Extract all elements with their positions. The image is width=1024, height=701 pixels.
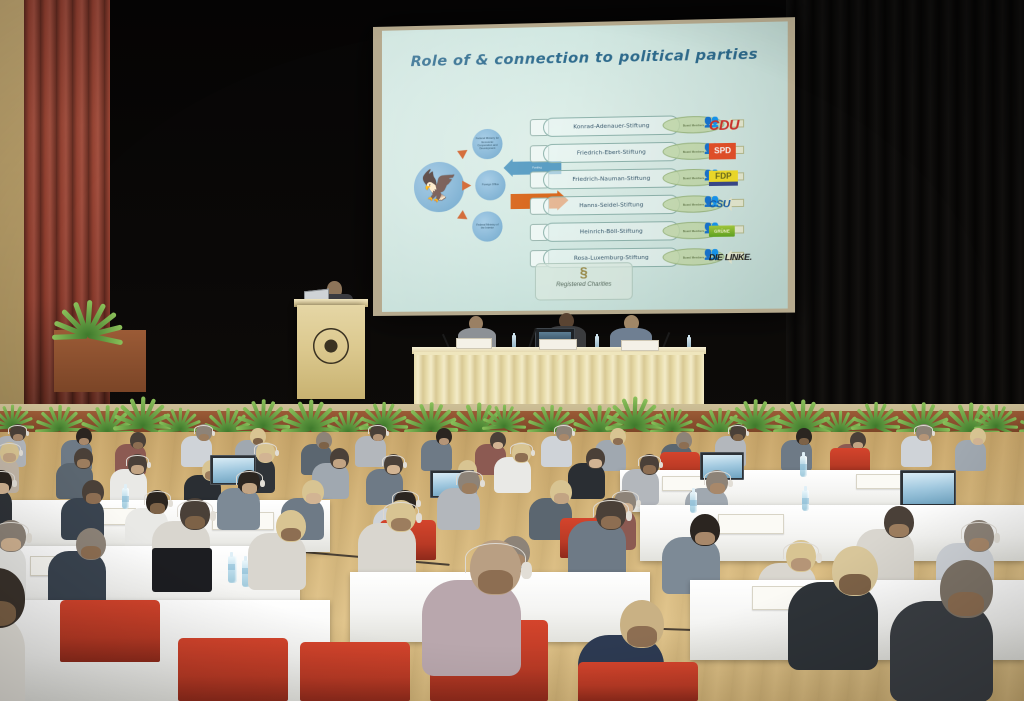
swirl-logo-icon: ⦿ [311, 329, 351, 369]
interpretation-headset [368, 425, 387, 435]
party-label: FDP [709, 170, 738, 186]
delegate-name-card [718, 514, 784, 534]
delegate-torso [781, 440, 812, 470]
delegate-nape [589, 459, 602, 468]
delegate-laptop [900, 470, 956, 506]
interpretation-headset [0, 443, 21, 454]
foundation-name: Heinrich-Böll-Stiftung [543, 221, 680, 242]
arrow-down-icon [457, 210, 470, 223]
delegate-nape [969, 538, 989, 552]
projection-screen-frame: Role of & connection to political partie… [373, 17, 795, 316]
interpretation-headset [465, 543, 526, 573]
ministry-node-2: Foreign Office [475, 170, 505, 201]
registered-charities-label: Registered Charities [536, 281, 632, 288]
panel-name-card [621, 340, 659, 351]
delegate-nape [889, 524, 909, 538]
ministry-node-3: Federal Ministry of the Interior [472, 211, 502, 242]
foundation-name: Friedrich-Ebert-Stiftung [543, 142, 680, 164]
party-logo-die-linke: DIE LINKE. [709, 245, 782, 268]
delegate-chair [578, 662, 698, 701]
delegate-nape [319, 442, 330, 449]
delegate-nape [919, 434, 930, 441]
delegate-nape [259, 453, 272, 462]
delegate-nape [391, 518, 411, 532]
delegate-torso [890, 601, 993, 701]
delegate-nape [643, 465, 656, 474]
interpretation-headset [961, 522, 997, 540]
delegate-nape [791, 558, 811, 572]
delegate-nape [81, 546, 101, 560]
arrow-right-icon [462, 181, 471, 191]
delegate-chair [178, 638, 288, 701]
delegate-torso [568, 521, 626, 578]
delegate-nape [3, 453, 16, 462]
projection-screen: Role of & connection to political partie… [382, 21, 788, 312]
delegate-torso [437, 488, 481, 531]
hall-side-wall [0, 0, 26, 420]
interpretation-headset [126, 455, 149, 466]
interpretation-headset [0, 522, 29, 540]
delegate-nape [973, 438, 984, 445]
delegate-nape [478, 570, 512, 593]
party-label: SPD [709, 143, 736, 160]
ministry-node-1: Federal Ministry for Economic Cooperatio… [472, 129, 502, 160]
delegate-nape [86, 493, 101, 503]
delegate-nape [839, 574, 870, 595]
delegate-nape [613, 438, 624, 445]
delegate-nape [695, 532, 715, 546]
delegate-nape [948, 592, 984, 616]
party-logo-csu: CSU [709, 192, 782, 215]
delegate-nape [281, 528, 301, 542]
fern-plant [650, 400, 698, 432]
delegate-torso [901, 436, 932, 466]
foundation-name: Friedrich-Nauman-Stiftung [543, 168, 680, 189]
water-bottle [122, 488, 129, 509]
fern-plant [52, 287, 130, 338]
interpretation-headset [728, 425, 747, 435]
delegate-nape [131, 465, 144, 474]
delegate-torso [955, 440, 986, 470]
interpretation-headset [254, 443, 277, 454]
lectern: ⦿ [297, 305, 365, 399]
foundation-name: Konrad-Adenauer-Stiftung [543, 115, 680, 137]
headset-earpiece [416, 513, 423, 523]
party-label: GRÜNE [709, 225, 735, 237]
interpretation-headset [177, 500, 213, 518]
delegate-nape [679, 442, 690, 449]
eagle-glyph: 🦅 [420, 172, 458, 203]
delegate-torso [248, 533, 306, 590]
interpretation-headset [593, 500, 629, 518]
interpretation-headset [382, 455, 405, 466]
delegate-nape [733, 434, 744, 441]
interpretation-headset [783, 542, 819, 560]
interpretation-headset [638, 455, 661, 466]
party-logo-spd: SPD [709, 139, 782, 163]
party-label: CSU [709, 198, 730, 209]
interpretation-headset [704, 471, 731, 484]
delegate-torso [788, 582, 878, 670]
interpretation-headset [914, 425, 933, 435]
delegate-nape [0, 483, 9, 493]
fern-plant [482, 397, 530, 429]
delegate-nape [199, 434, 210, 441]
german-federal-eagle-icon: 🦅 [414, 162, 464, 213]
delegate-nape [710, 483, 725, 493]
section-symbol-icon: § [536, 263, 632, 282]
foundation-name: Hanns-Seidel-Stiftung [543, 195, 680, 216]
delegate-torso [541, 436, 572, 466]
delegate-nape [13, 434, 24, 441]
headset-earpiece [626, 511, 633, 521]
delegate-nape [333, 459, 346, 468]
slide-title: Role of & connection to political partie… [382, 46, 788, 71]
interpretation-headset [194, 425, 213, 435]
delegate-nape [601, 516, 621, 530]
party-label: CDU [709, 116, 739, 133]
delegate-torso [421, 440, 452, 470]
headset-earpiece [816, 553, 823, 563]
delegate-chair [300, 642, 410, 701]
headset-earpiece [521, 562, 532, 579]
delegate-nape [439, 438, 450, 445]
delegate-nape [493, 442, 504, 449]
delegate-nape [627, 626, 657, 646]
fern-plant [974, 397, 1022, 429]
black-stage-curtain [786, 0, 1024, 420]
delegate-nape [373, 434, 384, 441]
delegate-nape [462, 483, 477, 493]
interpretation-headset [8, 425, 27, 435]
delegate-nape [559, 434, 570, 441]
interpretation-headset [510, 443, 533, 454]
party-logo-gruene: GRÜNE [709, 219, 782, 242]
party-label: DIE LINKE. [709, 252, 752, 263]
delegate-nape [79, 438, 90, 445]
delegate-nape [185, 516, 205, 530]
interpretation-headset [144, 491, 171, 504]
delegate-nape [242, 483, 257, 493]
arrow-up-icon [457, 146, 470, 159]
delegate-nape [515, 453, 528, 462]
headset-earpiece [994, 533, 1001, 543]
headset-earpiece [210, 511, 217, 521]
interpretation-headset [554, 425, 573, 435]
registered-charities-box: § Registered Charities [535, 262, 633, 300]
interpretation-headset [383, 502, 419, 520]
conference-hall-scene: Role of & connection to political partie… [0, 0, 1024, 701]
water-bottle [690, 492, 697, 513]
delegate-nape [1, 538, 21, 552]
interpretation-headset [236, 471, 263, 484]
delegate-torso [217, 488, 261, 531]
delegate-nape [387, 465, 400, 474]
shoulder-bag [152, 548, 212, 592]
water-bottle [228, 556, 237, 583]
headset-earpiece [26, 533, 33, 543]
delegate-nape [554, 493, 569, 503]
delegate-nape [133, 442, 144, 449]
delegate-torso [422, 580, 521, 677]
panel-name-card [456, 338, 492, 349]
delegate-chair [60, 600, 160, 662]
fern-plant [1019, 396, 1024, 431]
delegate-nape [150, 503, 165, 513]
water-bottle [800, 456, 807, 477]
water-bottle [802, 490, 809, 511]
panel-name-card [539, 339, 577, 350]
party-logo-fdp: FDP [709, 166, 782, 190]
delegate-nape [77, 459, 90, 468]
delegate-nape [306, 493, 321, 503]
interpretation-headset [456, 471, 483, 484]
delegate-nape [799, 438, 810, 445]
party-logo-cdu: CDU [709, 112, 782, 136]
